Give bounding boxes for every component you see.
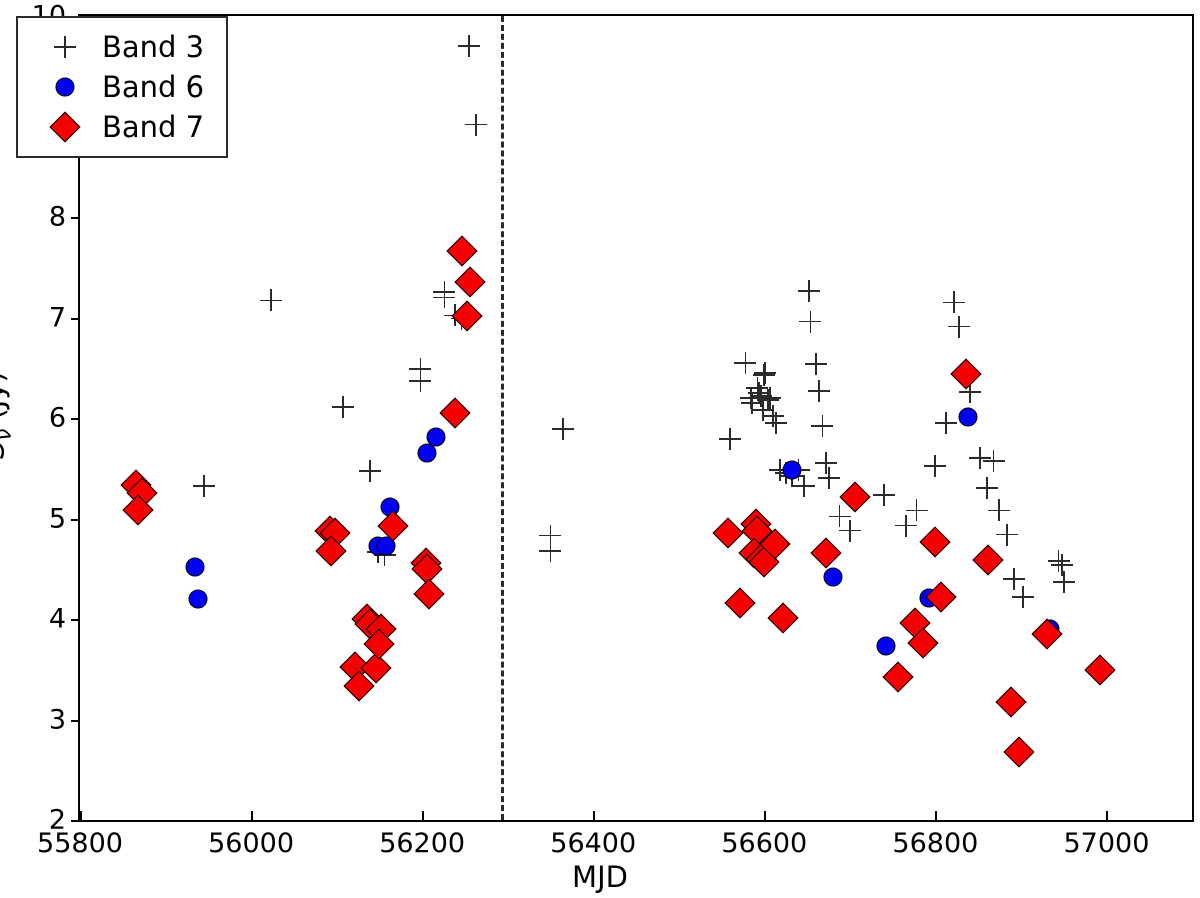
data-point-band-3 [805,353,827,375]
data-point-band-3 [465,114,487,136]
x-axis-tick [80,811,82,820]
data-point-band-3 [193,475,215,497]
data-point-band-7 [925,581,956,612]
plus-marker-icon [32,27,98,67]
data-point-band-3 [924,455,946,477]
data-point-band-3 [539,540,561,562]
data-point-band-3 [552,418,574,440]
y-axis-tick-label: 8 [6,202,66,233]
data-point-band-7 [713,517,744,548]
data-point-band-3 [839,520,861,542]
data-point-band-7 [973,544,1004,575]
legend-item-band3: Band 3 [32,27,204,67]
data-point-band-7 [882,662,913,693]
circle-marker-icon [32,67,98,107]
legend-item-band7: Band 7 [32,107,204,147]
y-axis-tick-label: 4 [6,604,66,635]
legend-label: Band 7 [98,113,204,142]
data-point-band-3 [943,291,965,313]
data-point-band-3 [906,499,928,521]
x-axis-tick-label: 56400 [550,828,636,859]
data-point-band-6 [186,557,205,576]
y-axis-tick [71,519,80,521]
data-point-band-3 [996,524,1018,546]
data-point-band-3 [458,35,480,57]
data-point-band-7 [454,267,485,298]
data-point-band-7 [439,397,470,428]
x-axis-tick-label: 56000 [208,828,294,859]
x-axis-tick [251,811,253,820]
data-point-band-3 [948,316,970,338]
data-point-band-7 [1004,736,1035,767]
x-axis-tick [935,811,937,820]
data-point-band-6 [958,407,977,426]
data-point-band-7 [1084,655,1115,686]
data-point-band-3 [988,499,1010,521]
data-point-band-7 [995,687,1026,718]
x-axis-tick [764,811,766,820]
x-axis-tick-label: 56200 [379,828,465,859]
y-axis-tick-label: 5 [6,503,66,534]
x-axis-tick-label: 57000 [1064,828,1150,859]
data-point-band-3 [811,415,833,437]
data-point-band-3 [332,396,354,418]
plot-canvas [80,16,1192,820]
y-axis-tick [71,217,80,219]
x-axis-tick [593,811,595,820]
data-point-band-3 [873,484,895,506]
diamond-marker-icon [32,107,98,147]
vertical-divider-line [501,16,504,820]
x-axis-tick-label: 55800 [37,828,123,859]
x-axis-tick [1106,811,1108,820]
legend-label: Band 6 [98,73,204,102]
data-point-band-7 [725,587,756,618]
legend: Band 3 Band 6 Band 7 [16,16,228,158]
data-point-band-7 [920,526,951,557]
y-axis-label: Sν (Jy) [0,371,15,459]
data-point-band-6 [876,637,895,656]
figure: 2345678910558005600056200564005660056800… [0,0,1200,898]
data-point-band-3 [798,280,820,302]
x-axis-tick-label: 56800 [892,828,978,859]
plot-area: 2345678910558005600056200564005660056800… [78,14,1194,822]
y-axis-tick [71,619,80,621]
x-axis-tick [422,811,424,820]
data-point-band-6 [782,461,801,480]
data-point-band-3 [799,311,821,333]
data-point-band-3 [409,370,431,392]
data-point-band-3 [808,380,830,402]
data-point-band-3 [765,412,787,434]
data-point-band-6 [823,567,842,586]
x-axis-label: MJD [0,860,1200,894]
data-point-band-6 [189,589,208,608]
data-point-band-3 [818,467,840,489]
legend-label: Band 3 [98,33,204,62]
y-axis-tick [71,418,80,420]
y-axis-tick [71,720,80,722]
y-axis-tick-label: 3 [6,704,66,735]
x-axis-tick-label: 56600 [721,828,807,859]
data-point-band-7 [768,602,799,633]
data-point-band-3 [1053,571,1075,593]
y-axis-tick [71,820,80,822]
data-point-band-7 [810,537,841,568]
data-point-band-3 [260,289,282,311]
data-point-band-3 [976,477,998,499]
data-point-band-3 [983,450,1005,472]
data-point-band-7 [446,236,477,267]
data-point-band-3 [935,412,957,434]
y-axis-tick [71,318,80,320]
data-point-band-3 [754,362,776,384]
data-point-band-6 [426,428,445,447]
data-point-band-3 [359,460,381,482]
legend-item-band6: Band 6 [32,67,204,107]
data-point-band-3 [719,428,741,450]
data-point-band-7 [413,578,444,609]
data-point-band-3 [1012,586,1034,608]
y-axis-tick-label: 7 [6,302,66,333]
